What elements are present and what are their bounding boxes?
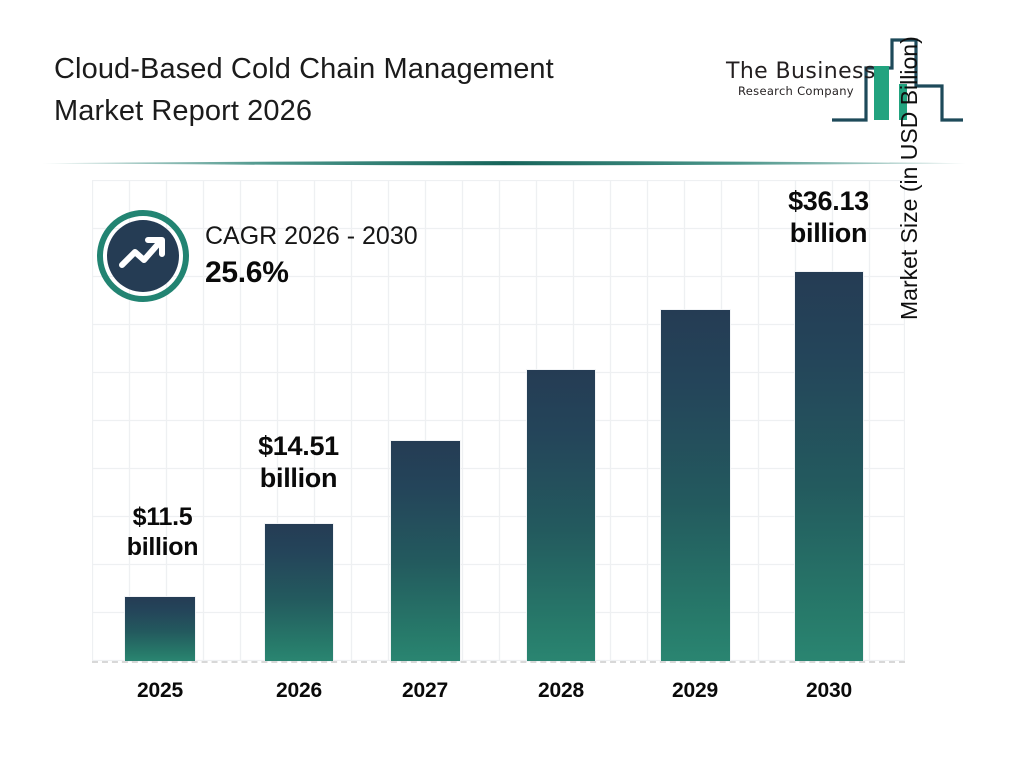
trending-up-icon: [97, 210, 189, 302]
bar-value-label-2025: $11.5 billion: [85, 503, 240, 562]
x-axis-label-2026: 2026: [244, 679, 354, 703]
logo-line-1: The Business: [726, 60, 876, 84]
cagr-text-group: CAGR 2026 - 2030 25.6%: [205, 219, 418, 293]
logo-line-2: Research Company: [738, 84, 876, 98]
y-axis-title: Market Size (in USD Billion): [896, 0, 923, 320]
cagr-value: 25.6%: [205, 253, 418, 293]
x-axis-label-2027: 2027: [370, 679, 480, 703]
axis-baseline: [92, 661, 905, 663]
cagr-period-label: CAGR 2026 - 2030: [205, 219, 418, 253]
x-axis-label-2030: 2030: [774, 679, 884, 703]
x-axis-label-2028: 2028: [506, 679, 616, 703]
cagr-callout: CAGR 2026 - 2030 25.6%: [97, 205, 497, 315]
company-logo: The Business Research Company: [722, 34, 972, 134]
bar-2029[interactable]: [661, 310, 730, 661]
logo-text: The Business Research Company: [726, 60, 876, 98]
bar-value-label-2026: $14.51 billion: [222, 431, 375, 495]
bar-value-label-2030: $36.13 billion: [752, 186, 905, 250]
x-axis-label-2025: 2025: [105, 679, 215, 703]
page-title: Cloud-Based Cold Chain Management Market…: [54, 48, 674, 132]
bar-2025[interactable]: [125, 597, 195, 661]
report-page: Cloud-Based Cold Chain Management Market…: [0, 0, 1024, 768]
x-axis-label-2029: 2029: [640, 679, 750, 703]
header-divider: [42, 155, 966, 171]
bar-2030[interactable]: [795, 272, 863, 661]
bar-2026[interactable]: [265, 524, 333, 661]
bar-2028[interactable]: [527, 370, 595, 661]
bar-2027[interactable]: [391, 441, 460, 661]
